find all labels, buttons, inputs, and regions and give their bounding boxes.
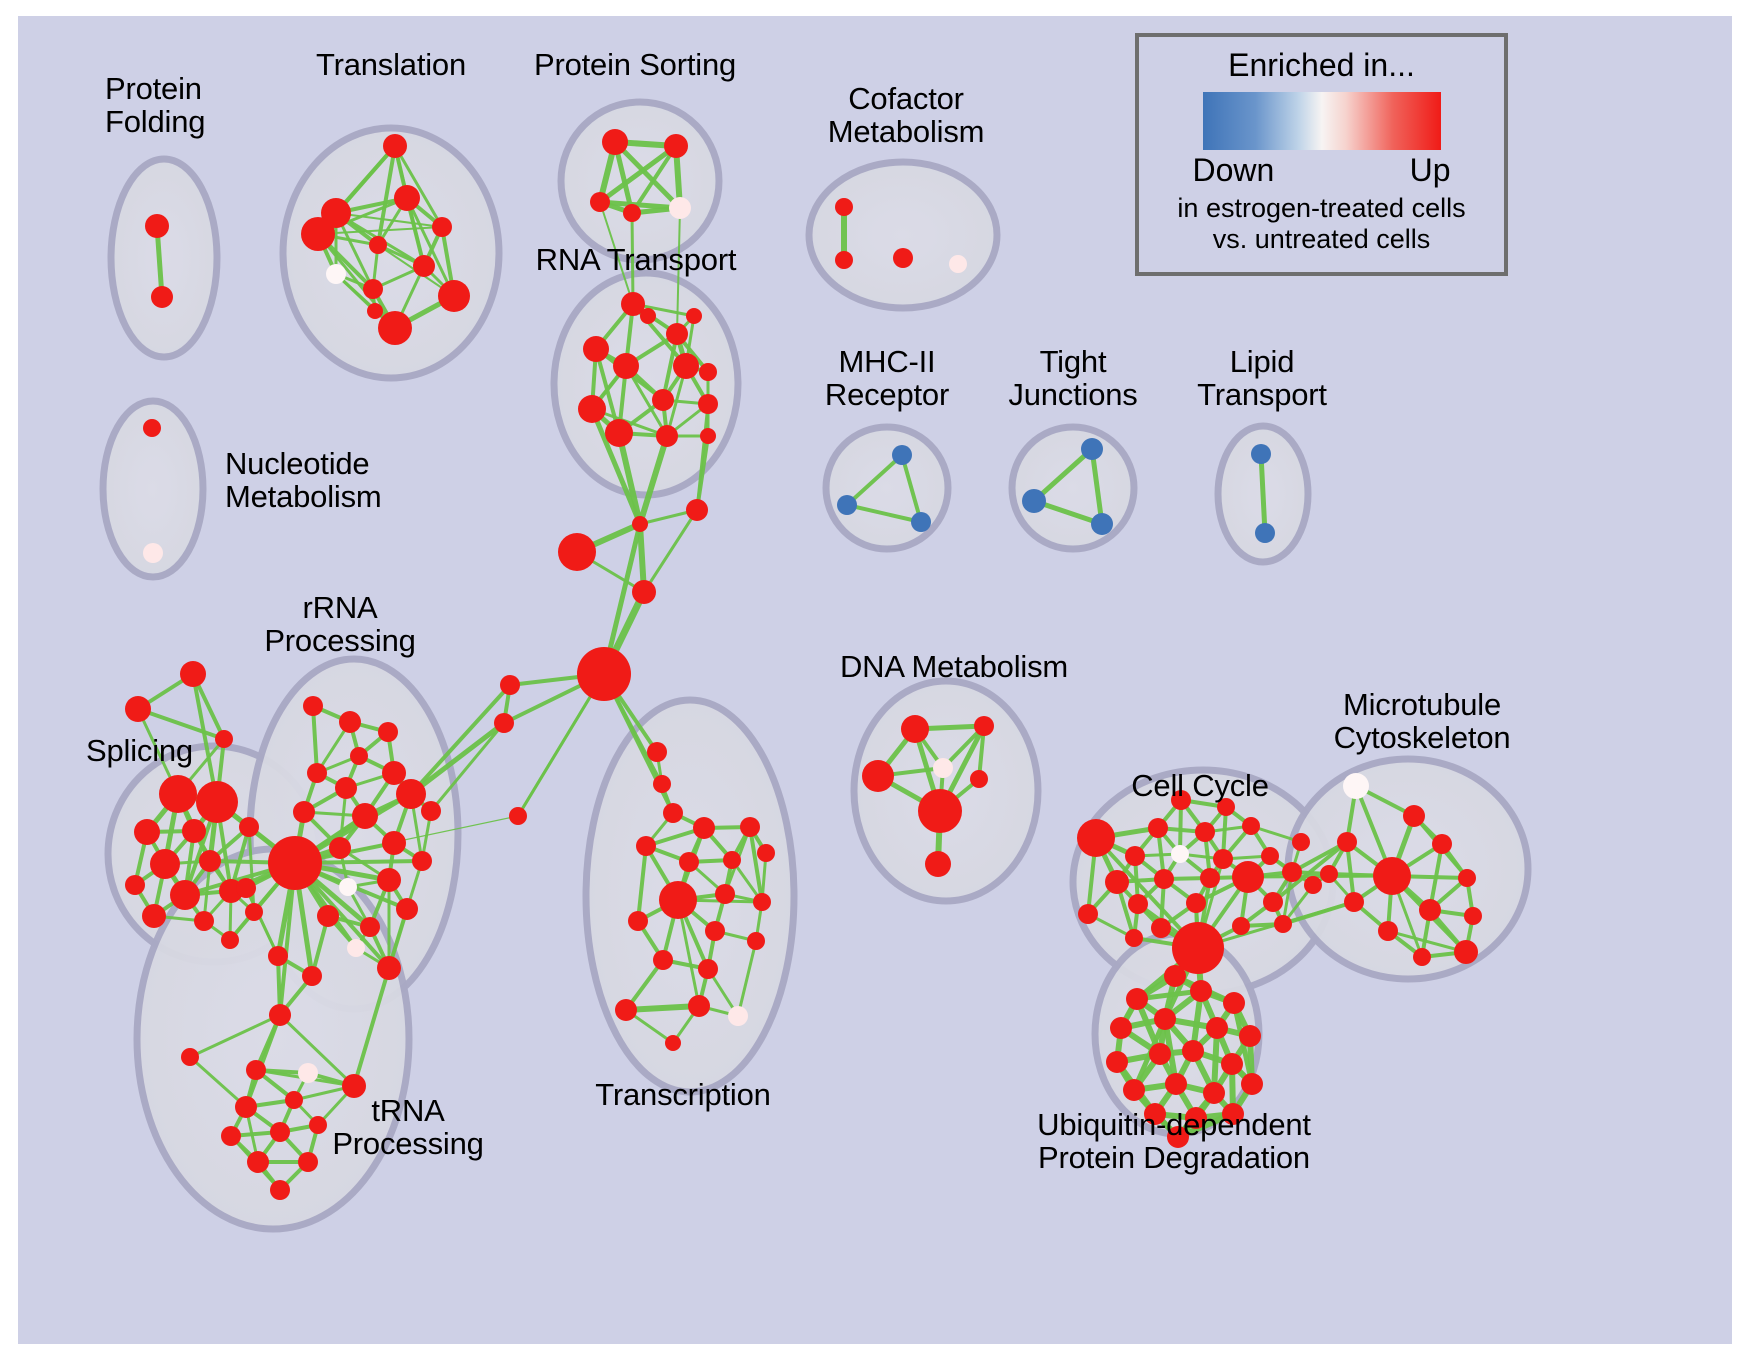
gene-set-node[interactable] [268, 836, 322, 890]
gene-set-node[interactable] [303, 696, 323, 716]
gene-set-node[interactable] [615, 999, 637, 1021]
gene-set-node[interactable] [339, 878, 357, 896]
gene-set-node[interactable] [664, 134, 688, 158]
gene-set-node[interactable] [632, 516, 648, 532]
color-legend: Enriched in... Down Up in estrogen-treat… [1135, 33, 1508, 276]
gene-set-node[interactable] [652, 389, 674, 411]
gene-set-node[interactable] [500, 675, 520, 695]
gene-set-node[interactable] [835, 251, 853, 269]
gene-set-node[interactable] [170, 880, 200, 910]
gene-set-node[interactable] [666, 323, 688, 345]
gene-set-node[interactable] [1239, 1025, 1261, 1047]
gene-set-node[interactable] [1223, 992, 1245, 1014]
gene-set-node[interactable] [383, 134, 407, 158]
gene-set-node[interactable] [236, 878, 256, 898]
gene-set-node[interactable] [150, 849, 180, 879]
gene-set-node[interactable] [142, 904, 166, 928]
gene-set-node[interactable] [1126, 988, 1148, 1010]
gene-set-node[interactable] [302, 966, 322, 986]
gene-set-node[interactable] [1149, 1043, 1171, 1065]
gene-set-node[interactable] [925, 851, 951, 877]
gene-set-node[interactable] [1185, 1107, 1207, 1129]
gene-set-node[interactable] [1200, 868, 1220, 888]
gene-set-node[interactable] [835, 198, 853, 216]
gene-set-node[interactable] [363, 279, 383, 299]
gene-set-node[interactable] [698, 959, 718, 979]
gene-set-node[interactable] [307, 763, 327, 783]
gene-set-node[interactable] [378, 722, 398, 742]
gene-set-node[interactable] [247, 1151, 269, 1173]
gene-set-node[interactable] [1125, 929, 1143, 947]
gene-set-node[interactable] [180, 661, 206, 687]
legend-low-label: Down [1193, 152, 1275, 189]
gene-set-node[interactable] [1261, 847, 1279, 865]
gene-set-node[interactable] [656, 425, 678, 447]
gene-set-node[interactable] [673, 353, 699, 379]
gene-set-node[interactable] [1217, 798, 1235, 816]
gene-set-node[interactable] [1282, 862, 1302, 882]
gene-set-node[interactable] [412, 851, 432, 871]
gene-set-node[interactable] [862, 760, 894, 792]
gene-set-node[interactable] [1263, 892, 1283, 912]
gene-set-node[interactable] [1343, 773, 1369, 799]
cluster-ellipse-mhc-ii-receptor [826, 427, 948, 549]
gene-set-node[interactable] [1255, 523, 1275, 543]
gene-set-node[interactable] [1164, 965, 1186, 987]
gene-set-node[interactable] [1182, 1040, 1204, 1062]
gene-set-node[interactable] [1464, 907, 1482, 925]
gene-set-node[interactable] [1167, 1126, 1189, 1148]
gene-set-node[interactable] [194, 911, 214, 931]
gene-set-node[interactable] [1195, 822, 1215, 842]
gene-set-node[interactable] [1337, 832, 1357, 852]
gene-set-node[interactable] [640, 308, 656, 324]
gene-set-node[interactable] [377, 868, 401, 892]
gene-set-node[interactable] [753, 893, 771, 911]
gene-set-node[interactable] [329, 837, 351, 859]
gene-set-node[interactable] [421, 801, 441, 821]
gene-set-node[interactable] [1190, 980, 1212, 1002]
gene-set-node[interactable] [918, 789, 962, 833]
gene-set-node[interactable] [1106, 1051, 1128, 1073]
gene-set-node[interactable] [1128, 894, 1148, 914]
cluster-ellipse-cofactor-metabolism [809, 162, 997, 308]
gene-set-node[interactable] [757, 844, 775, 862]
cluster-ellipse-tight-junctions [1012, 427, 1134, 549]
gene-set-node[interactable] [590, 192, 610, 212]
gene-set-node[interactable] [705, 921, 725, 941]
gene-set-node[interactable] [199, 850, 221, 872]
gene-set-node[interactable] [636, 836, 656, 856]
gene-set-node[interactable] [933, 758, 953, 778]
gene-set-node[interactable] [270, 1180, 290, 1200]
gene-set-node[interactable] [350, 747, 368, 765]
gene-set-node[interactable] [367, 303, 383, 319]
gene-set-node[interactable] [221, 931, 239, 949]
legend-subtitle-line1: in estrogen-treated cells [1177, 193, 1465, 224]
gene-set-node[interactable] [509, 807, 527, 825]
gene-set-node[interactable] [269, 1004, 291, 1026]
gene-set-node[interactable] [1222, 1103, 1244, 1125]
edge [632, 213, 633, 304]
enrichment-map-figure: ProteinFoldingTranslationProtein Sorting… [0, 0, 1750, 1360]
gene-set-node[interactable] [628, 911, 648, 931]
gene-set-node[interactable] [1165, 1073, 1187, 1095]
gene-set-node[interactable] [1454, 940, 1478, 964]
gene-set-node[interactable] [309, 1116, 327, 1134]
gene-set-node[interactable] [911, 512, 931, 532]
gene-set-node[interactable] [1403, 805, 1425, 827]
gene-set-node[interactable] [1458, 869, 1476, 887]
gene-set-node[interactable] [1213, 849, 1233, 869]
gene-set-node[interactable] [970, 770, 988, 788]
gene-set-node[interactable] [413, 255, 435, 277]
gene-set-node[interactable] [1292, 833, 1310, 851]
gene-set-node[interactable] [326, 264, 346, 284]
gene-set-node[interactable] [623, 204, 641, 222]
gene-set-node[interactable] [583, 336, 609, 362]
gene-set-node[interactable] [1144, 1103, 1166, 1125]
gene-set-node[interactable] [382, 761, 406, 785]
gene-set-node[interactable] [653, 950, 673, 970]
gene-set-node[interactable] [382, 831, 406, 855]
gene-set-node[interactable] [974, 716, 994, 736]
gene-set-node[interactable] [1274, 915, 1292, 933]
gene-set-node[interactable] [1241, 1073, 1263, 1095]
gene-set-node[interactable] [143, 419, 161, 437]
gene-set-node[interactable] [221, 1126, 241, 1146]
gene-set-node[interactable] [125, 696, 151, 722]
legend-title: Enriched in... [1228, 47, 1415, 84]
gene-set-node[interactable] [577, 647, 631, 701]
gene-set-node[interactable] [558, 533, 596, 571]
gene-set-node[interactable] [1105, 870, 1129, 894]
gene-set-node[interactable] [1251, 444, 1271, 464]
gene-set-node[interactable] [578, 395, 606, 423]
gene-set-node[interactable] [700, 428, 716, 444]
gene-set-node[interactable] [301, 217, 335, 251]
gene-set-node[interactable] [1320, 865, 1338, 883]
gene-set-node[interactable] [602, 129, 628, 155]
gene-set-node[interactable] [1125, 846, 1145, 866]
gene-set-node[interactable] [1186, 893, 1206, 913]
gene-set-node[interactable] [893, 248, 913, 268]
gene-set-node[interactable] [1203, 1082, 1225, 1104]
gene-set-node[interactable] [396, 898, 418, 920]
gene-set-node[interactable] [317, 905, 339, 927]
gene-set-node[interactable] [268, 946, 288, 966]
gene-set-node[interactable] [1419, 899, 1441, 921]
gene-set-node[interactable] [698, 394, 718, 414]
legend-color-bar [1203, 92, 1441, 150]
gene-set-node[interactable] [245, 903, 263, 921]
gene-set-node[interactable] [686, 308, 702, 324]
gene-set-node[interactable] [1373, 857, 1411, 895]
gene-set-node[interactable] [1078, 904, 1098, 924]
gene-set-node[interactable] [653, 775, 671, 793]
gene-set-node[interactable] [1344, 892, 1364, 912]
gene-set-node[interactable] [215, 730, 233, 748]
gene-set-node[interactable] [125, 875, 145, 895]
gene-set-node[interactable] [659, 881, 697, 919]
gene-set-node[interactable] [1378, 921, 1398, 941]
cluster-ellipse-protein-folding [111, 159, 217, 357]
gene-set-node[interactable] [688, 995, 710, 1017]
gene-set-node[interactable] [647, 742, 667, 762]
gene-set-node[interactable] [1232, 917, 1250, 935]
gene-set-node[interactable] [394, 185, 420, 211]
gene-set-node[interactable] [1171, 790, 1191, 810]
gene-set-node[interactable] [1151, 918, 1171, 938]
gene-set-node[interactable] [715, 884, 735, 904]
gene-set-node[interactable] [196, 781, 238, 823]
gene-set-node[interactable] [159, 775, 197, 813]
gene-set-node[interactable] [1091, 513, 1113, 535]
gene-set-node[interactable] [285, 1091, 303, 1109]
gene-set-node[interactable] [378, 311, 412, 345]
gene-set-node[interactable] [145, 214, 169, 238]
gene-set-node[interactable] [1171, 845, 1189, 863]
gene-set-node[interactable] [246, 1060, 266, 1080]
gene-set-node[interactable] [1123, 1079, 1145, 1101]
gene-set-node[interactable] [747, 932, 765, 950]
gene-set-node[interactable] [235, 1096, 257, 1118]
gene-set-node[interactable] [632, 580, 656, 604]
gene-set-node[interactable] [1154, 1008, 1176, 1030]
gene-set-node[interactable] [669, 197, 691, 219]
gene-set-node[interactable] [1432, 834, 1452, 854]
gene-set-node[interactable] [1221, 1053, 1243, 1075]
legend-subtitle: in estrogen-treated cells vs. untreated … [1177, 193, 1465, 255]
gene-set-node[interactable] [494, 713, 514, 733]
gene-set-node[interactable] [949, 255, 967, 273]
gene-set-node[interactable] [665, 1035, 681, 1051]
gene-set-node[interactable] [151, 286, 173, 308]
gene-set-node[interactable] [182, 819, 206, 843]
gene-set-node[interactable] [360, 917, 380, 937]
network-canvas: ProteinFoldingTranslationProtein Sorting… [18, 16, 1732, 1344]
gene-set-node[interactable] [1077, 819, 1115, 857]
gene-set-node[interactable] [342, 1074, 366, 1098]
gene-set-node[interactable] [613, 353, 639, 379]
gene-set-node[interactable] [728, 1006, 748, 1026]
gene-set-node[interactable] [723, 851, 741, 869]
gene-set-node[interactable] [693, 817, 715, 839]
gene-set-node[interactable] [1081, 438, 1103, 460]
gene-set-node[interactable] [1110, 1017, 1132, 1039]
gene-set-node[interactable] [298, 1063, 318, 1083]
gene-set-node[interactable] [347, 939, 365, 957]
legend-subtitle-line2: vs. untreated cells [1177, 224, 1465, 255]
gene-set-node[interactable] [298, 1152, 318, 1172]
gene-set-node[interactable] [396, 779, 426, 809]
gene-set-node[interactable] [699, 363, 717, 381]
gene-set-node[interactable] [892, 445, 912, 465]
gene-set-node[interactable] [679, 852, 699, 872]
gene-set-node[interactable] [740, 817, 760, 837]
gene-set-node[interactable] [438, 280, 470, 312]
cluster-ellipse-protein-sorting [561, 102, 719, 260]
gene-set-node[interactable] [143, 543, 163, 563]
gene-set-node[interactable] [369, 236, 387, 254]
gene-set-node[interactable] [134, 819, 160, 845]
gene-set-node[interactable] [663, 803, 683, 823]
gene-set-node[interactable] [1206, 1017, 1228, 1039]
gene-set-node[interactable] [1413, 948, 1431, 966]
legend-endpoint-labels: Down Up [1193, 152, 1451, 189]
gene-set-node[interactable] [1304, 876, 1322, 894]
gene-set-node[interactable] [377, 956, 401, 980]
gene-set-node[interactable] [1242, 817, 1260, 835]
gene-set-node[interactable] [181, 1048, 199, 1066]
gene-set-node[interactable] [901, 715, 929, 743]
gene-set-node[interactable] [239, 817, 259, 837]
gene-set-node[interactable] [1154, 869, 1174, 889]
legend-high-label: Up [1410, 152, 1451, 189]
gene-set-node[interactable] [335, 777, 357, 799]
gene-set-node[interactable] [293, 801, 315, 823]
gene-set-node[interactable] [339, 711, 361, 733]
gene-set-node[interactable] [1148, 818, 1168, 838]
gene-set-node[interactable] [270, 1122, 290, 1142]
gene-set-node[interactable] [352, 803, 378, 829]
gene-set-node[interactable] [432, 217, 452, 237]
gene-set-node[interactable] [1232, 861, 1264, 893]
gene-set-node[interactable] [837, 495, 857, 515]
gene-set-node[interactable] [686, 499, 708, 521]
gene-set-node[interactable] [1022, 489, 1046, 513]
gene-set-node[interactable] [605, 419, 633, 447]
